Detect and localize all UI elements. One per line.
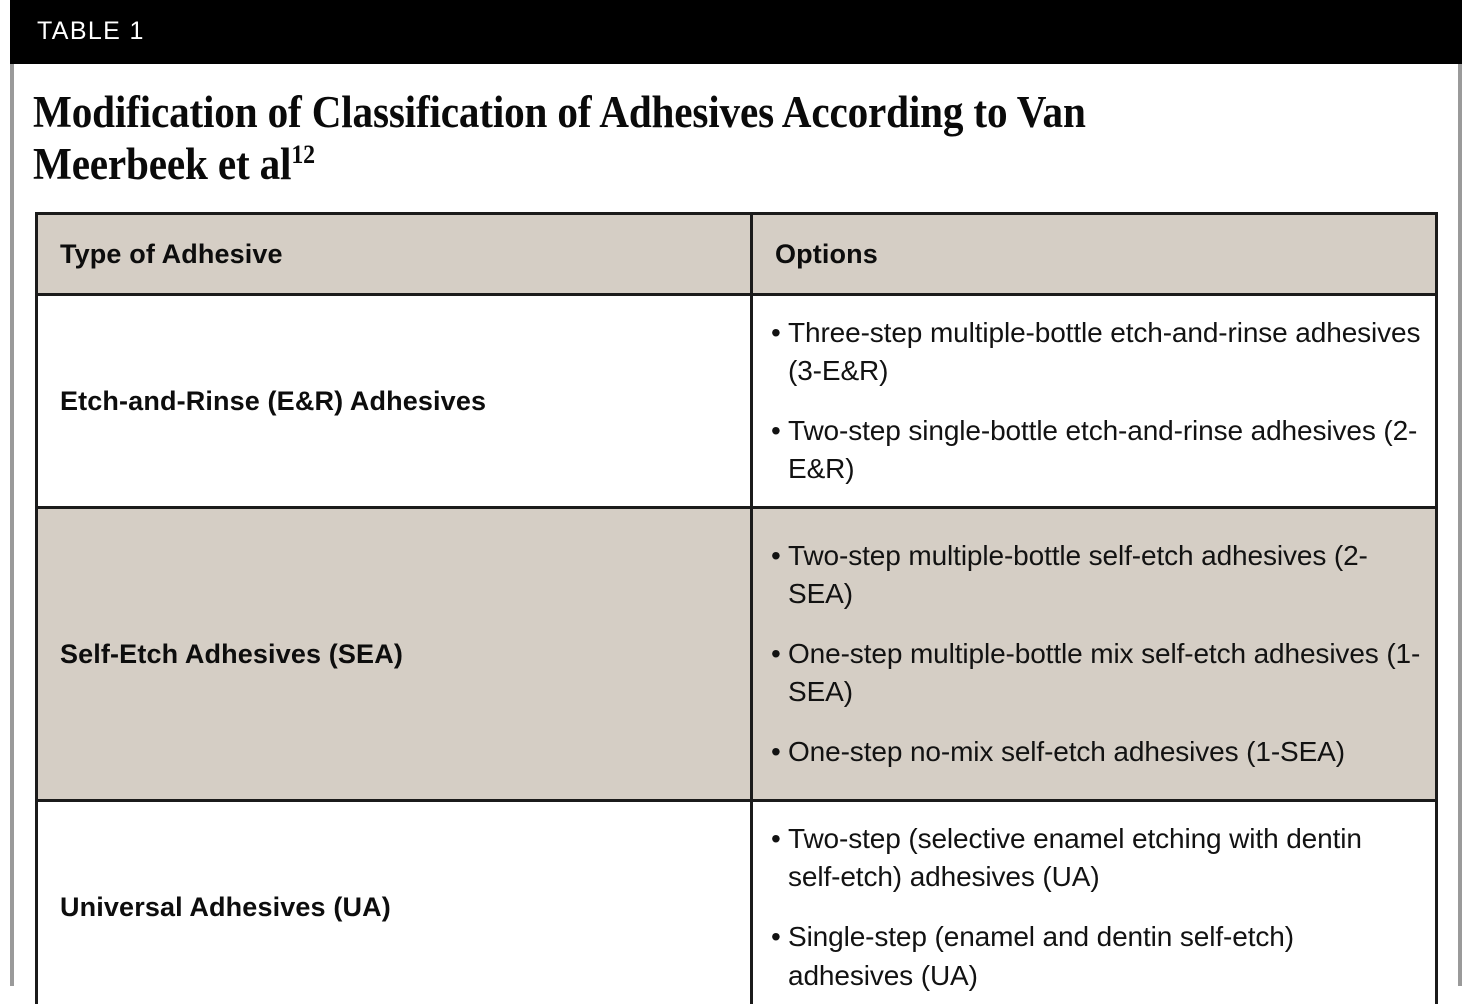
table-row: Etch-and-Rinse (E&R) Adhesives •Three-st… bbox=[37, 295, 1437, 508]
left-frame-rule bbox=[10, 64, 14, 986]
list-item-text: Two-step single-bottle etch-and-rinse ad… bbox=[788, 415, 1417, 484]
adhesive-type-cell: Self-Etch Adhesives (SEA) bbox=[37, 508, 752, 801]
adhesive-options-cell: •Two-step multiple-bottle self-etch adhe… bbox=[752, 508, 1437, 801]
bullet-icon: • bbox=[771, 314, 781, 352]
column-header-options-label: Options bbox=[753, 239, 1435, 270]
adhesive-type-cell: Universal Adhesives (UA) bbox=[37, 801, 752, 1004]
list-item-text: One-step no-mix self-etch adhesives (1-S… bbox=[788, 736, 1345, 767]
bullet-icon: • bbox=[771, 412, 781, 450]
table-banner: TABLE 1 bbox=[10, 0, 1462, 64]
adhesive-type-label: Universal Adhesives (UA) bbox=[38, 892, 750, 923]
page-title-text: Modification of Classification of Adhesi… bbox=[33, 87, 1086, 189]
list-item: •Two-step multiple-bottle self-etch adhe… bbox=[771, 537, 1421, 613]
list-item: •Single-step (enamel and dentin self-etc… bbox=[771, 918, 1421, 994]
table-row: Universal Adhesives (UA) •Two-step (sele… bbox=[37, 801, 1437, 1004]
adhesive-classification-table: Type of Adhesive Options Etch-and-Rinse … bbox=[35, 212, 1438, 1004]
bullet-icon: • bbox=[771, 918, 781, 956]
column-header-options: Options bbox=[752, 214, 1437, 295]
bullet-icon: • bbox=[771, 733, 781, 771]
list-item: •Two-step single-bottle etch-and-rinse a… bbox=[771, 412, 1421, 488]
options-list: •Two-step multiple-bottle self-etch adhe… bbox=[753, 519, 1435, 789]
list-item-text: Two-step multiple-bottle self-etch adhes… bbox=[788, 540, 1368, 609]
adhesive-type-label: Self-Etch Adhesives (SEA) bbox=[38, 639, 750, 670]
list-item-text: One-step multiple-bottle mix self-etch a… bbox=[788, 638, 1420, 707]
table-number-label: TABLE 1 bbox=[37, 19, 145, 44]
page-title: Modification of Classification of Adhesi… bbox=[33, 86, 1213, 190]
table-row: Self-Etch Adhesives (SEA) •Two-step mult… bbox=[37, 508, 1437, 801]
bullet-icon: • bbox=[771, 820, 781, 858]
right-frame-rule bbox=[1458, 64, 1462, 986]
page-title-superscript: 12 bbox=[291, 140, 315, 169]
list-item: •One-step multiple-bottle mix self-etch … bbox=[771, 635, 1421, 711]
bullet-icon: • bbox=[771, 537, 781, 575]
list-item-text: Two-step (selective enamel etching with … bbox=[788, 823, 1362, 892]
list-item: •Three-step multiple-bottle etch-and-rin… bbox=[771, 314, 1421, 390]
column-header-type: Type of Adhesive bbox=[37, 214, 752, 295]
adhesive-type-cell: Etch-and-Rinse (E&R) Adhesives bbox=[37, 295, 752, 508]
adhesive-options-cell: •Three-step multiple-bottle etch-and-rin… bbox=[752, 295, 1437, 508]
table-figure: TABLE 1 Modification of Classification o… bbox=[0, 0, 1472, 1004]
column-header-type-label: Type of Adhesive bbox=[38, 239, 750, 270]
options-list: •Two-step (selective enamel etching with… bbox=[753, 802, 1435, 1004]
bullet-icon: • bbox=[771, 635, 781, 673]
adhesive-type-label: Etch-and-Rinse (E&R) Adhesives bbox=[38, 386, 750, 417]
adhesive-options-cell: •Two-step (selective enamel etching with… bbox=[752, 801, 1437, 1004]
list-item: •Two-step (selective enamel etching with… bbox=[771, 820, 1421, 896]
list-item: •One-step no-mix self-etch adhesives (1-… bbox=[771, 733, 1421, 771]
list-item-text: Single-step (enamel and dentin self-etch… bbox=[788, 921, 1294, 990]
options-list: •Three-step multiple-bottle etch-and-rin… bbox=[753, 296, 1435, 506]
list-item-text: Three-step multiple-bottle etch-and-rins… bbox=[788, 317, 1420, 386]
table-header-row: Type of Adhesive Options bbox=[37, 214, 1437, 295]
